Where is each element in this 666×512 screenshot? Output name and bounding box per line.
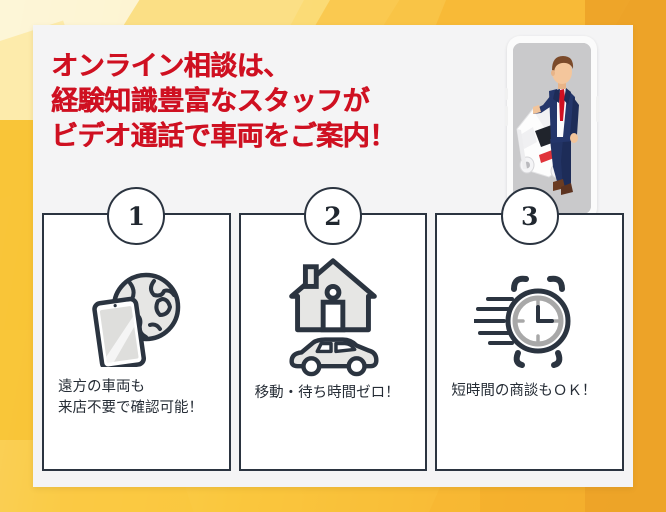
phone-power-button-icon — [596, 96, 599, 122]
phone-side-button-icon — [505, 88, 508, 100]
card-3-text-line-1: 短時間の商談もＯＫ！ — [451, 381, 610, 402]
headline-line-1: オンライン相談は、 — [51, 49, 491, 84]
house-icon — [292, 261, 375, 330]
card-2-text-line-1: 移動・待ち時間ゼロ！ — [255, 383, 414, 404]
headline-block: オンライン相談は、 経験知識豊富なスタッフが ビデオ通話で車両をご案内！ — [51, 49, 491, 154]
card-2-text: 移動・待ち時間ゼロ！ — [241, 383, 426, 404]
card-3-text: 短時間の商談もＯＫ！ — [437, 381, 622, 402]
card-1-text: 遠方の車両も 来店不要で確認可能！ — [44, 377, 229, 419]
house-car-icon — [279, 251, 387, 379]
card-number-badge-3: 3 — [501, 187, 559, 245]
headline-line-2: 経験知識豊富なスタッフが — [51, 84, 491, 119]
card-number-badge-1: 1 — [107, 187, 165, 245]
card-1-text-line-1: 遠方の車両も — [58, 377, 217, 398]
card-number-badge-2: 2 — [304, 187, 362, 245]
benefit-card-2[interactable]: 2 — [239, 213, 428, 471]
benefit-card-1[interactable]: 1 — [42, 213, 231, 471]
alarm-clock-speed-icon — [474, 265, 586, 377]
car-icon — [292, 340, 377, 374]
globe-smartphone-icon — [84, 261, 188, 373]
phone-volume-button-icon — [505, 106, 508, 126]
benefit-card-3[interactable]: 3 — [435, 213, 624, 471]
headline-line-3: ビデオ通話で車両をご案内！ — [51, 119, 491, 154]
poster-canvas: オンライン相談は、 経験知識豊富なスタッフが ビデオ通話で車両をご案内！ — [0, 0, 666, 512]
content-panel: オンライン相談は、 経験知識豊富なスタッフが ビデオ通話で車両をご案内！ — [33, 25, 633, 487]
benefit-cards-row: 1 — [39, 213, 627, 471]
card-1-text-line-2: 来店不要で確認可能！ — [58, 398, 217, 419]
